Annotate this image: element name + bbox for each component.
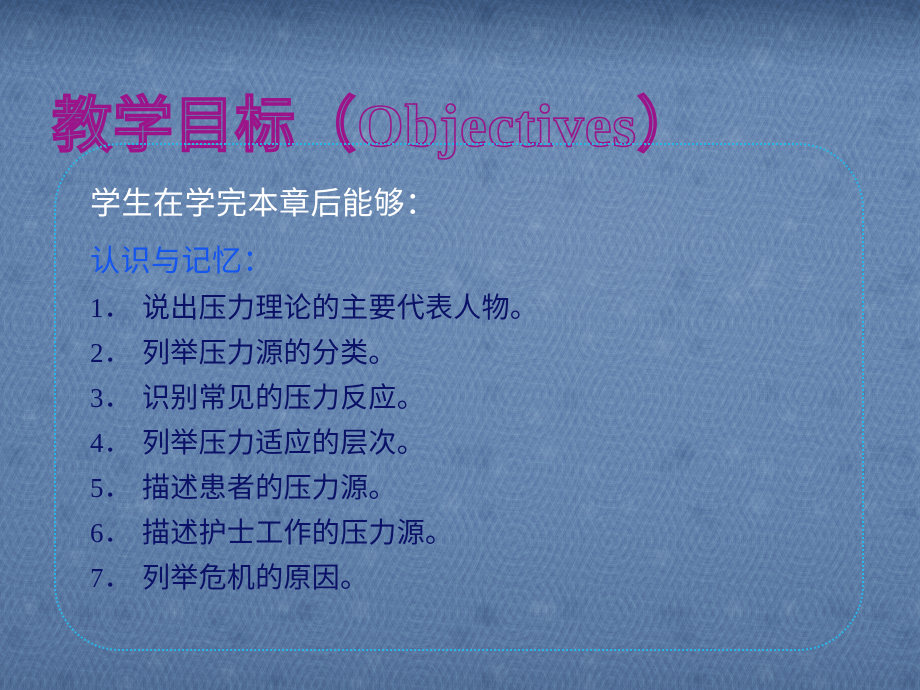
slide-body: 学生在学完本章后能够： 认识与记忆： 1． 说出压力理论的主要代表人物。 2． … [90, 186, 830, 601]
list-item-label: 列举压力源的分类。 [142, 332, 397, 376]
list-item-number: 4． [90, 421, 142, 465]
list-item: 2． 列举压力源的分类。 [90, 331, 830, 376]
list-item-number: 2． [90, 331, 142, 375]
section-heading: 认识与记忆： [90, 245, 830, 278]
list-item-number: 7． [90, 556, 142, 600]
objective-list: 1． 说出压力理论的主要代表人物。 2． 列举压力源的分类。 3． 识别常见的压… [90, 286, 830, 601]
list-item-label: 描述患者的压力源。 [142, 467, 397, 511]
list-item: 1． 说出压力理论的主要代表人物。 [90, 286, 830, 331]
list-item: 6． 描述护士工作的压力源。 [90, 511, 830, 556]
list-item-number: 3． [90, 376, 142, 420]
list-item-label: 描述护士工作的压力源。 [142, 512, 453, 556]
list-item-number: 1． [90, 286, 142, 330]
list-item-number: 6． [90, 511, 142, 555]
slide-title: 教学目标（Objectives） [52, 96, 698, 156]
list-item-number: 5． [90, 466, 142, 510]
list-item-label: 识别常见的压力反应。 [142, 377, 425, 421]
lead-in-text: 学生在学完本章后能够： [90, 186, 830, 223]
presentation-slide: 教学目标（Objectives） 学生在学完本章后能够： 认识与记忆： 1． 说… [0, 0, 920, 690]
list-item: 4． 列举压力适应的层次。 [90, 421, 830, 466]
list-item: 3． 识别常见的压力反应。 [90, 376, 830, 421]
list-item: 5． 描述患者的压力源。 [90, 466, 830, 511]
list-item: 7． 列举危机的原因。 [90, 556, 830, 601]
list-item-label: 列举压力适应的层次。 [142, 422, 425, 466]
list-item-label: 列举危机的原因。 [142, 557, 368, 601]
list-item-label: 说出压力理论的主要代表人物。 [142, 287, 538, 331]
